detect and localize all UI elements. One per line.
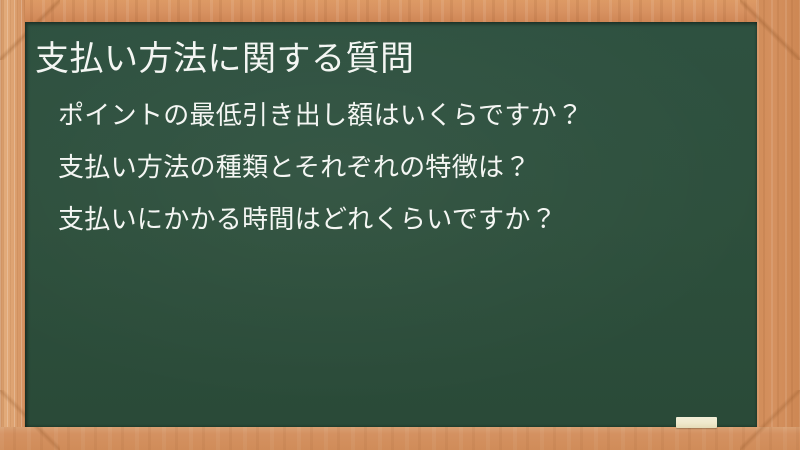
chalkboard-surface: 支払い方法に関する質問 ポイントの最低引き出し額はいくらですか？ 支払い方法の種… [25, 22, 757, 427]
chalk-stick-icon [676, 417, 717, 428]
frame-rail-top [0, 0, 800, 22]
frame-rail-right [757, 0, 800, 450]
frame-rail-left [0, 0, 25, 450]
page-title: 支払い方法に関する質問 [35, 42, 757, 76]
board-content: 支払い方法に関する質問 ポイントの最低引き出し額はいくらですか？ 支払い方法の種… [25, 22, 757, 258]
frame-ledge-bottom [0, 427, 800, 450]
list-item: ポイントの最低引き出し額はいくらですか？ [58, 102, 757, 128]
list-item: 支払いにかかる時間はどれくらいですか？ [58, 206, 757, 232]
chalkboard-slide: 支払い方法に関する質問 ポイントの最低引き出し額はいくらですか？ 支払い方法の種… [0, 0, 800, 450]
list-item: 支払い方法の種類とそれぞれの特徴は？ [58, 154, 757, 180]
question-list: ポイントの最低引き出し額はいくらですか？ 支払い方法の種類とそれぞれの特徴は？ … [25, 102, 757, 232]
